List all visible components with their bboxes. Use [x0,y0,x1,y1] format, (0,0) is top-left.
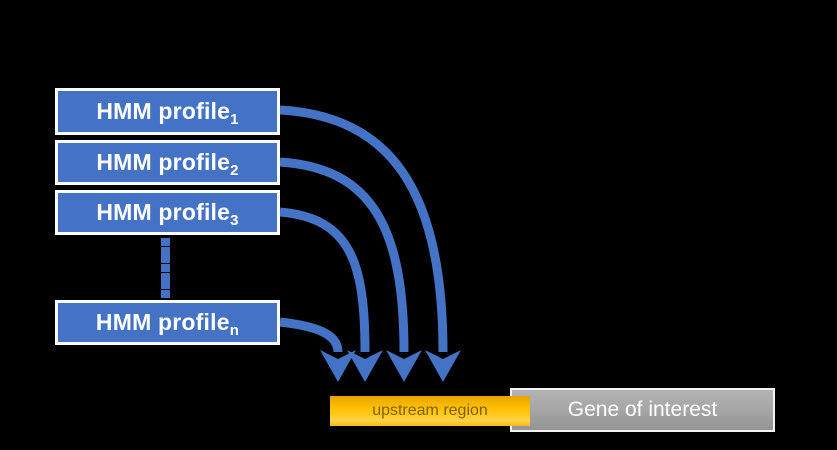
gene-of-interest-label: Gene of interest [568,398,717,422]
dot [161,273,170,281]
arrow-group [280,110,443,352]
vertical-dotted-connector-icon [161,238,170,298]
gene-of-interest-box: Gene of interest [510,388,775,432]
hmm-profile-box-2: HMM profile2 [55,140,280,185]
arrowhead-2 [386,350,422,382]
dot [161,290,170,298]
hmm-profile-label-2: HMM profile2 [96,151,238,174]
dot [161,247,170,255]
hmm-profile-subscript-1: 1 [230,111,239,128]
dot [161,238,170,246]
hmm-profile-label-n: HMM profilen [96,311,239,334]
dot [161,255,170,263]
hmm-profile-box-1: HMM profile1 [55,88,280,135]
arrowhead-1 [425,350,461,382]
dot [161,264,170,272]
hmm-profile-label-3: HMM profile3 [96,201,238,224]
arrowhead-3 [347,350,383,382]
hmm-profile-box-3: HMM profile3 [55,190,280,235]
arrowhead-group [320,350,461,382]
diagram-canvas: HMM profile1 HMM profile2 HMM profile3 H… [0,0,837,450]
arrow-path-2 [280,162,404,352]
arrowhead-4 [320,350,356,382]
hmm-profile-label-1: HMM profile1 [96,100,238,123]
upstream-region-label: upstream region [372,402,488,420]
hmm-profile-subscript-3: 3 [230,212,239,229]
hmm-profile-subscript-2: 2 [230,162,239,179]
hmm-profile-subscript-n: n [230,322,239,339]
dot [161,281,170,289]
arrow-path-3 [280,212,365,352]
arrow-path-1 [280,110,443,352]
hmm-profile-box-n: HMM profilen [55,300,280,345]
arrow-path-4 [280,322,338,352]
upstream-region-box: upstream region [330,396,530,426]
